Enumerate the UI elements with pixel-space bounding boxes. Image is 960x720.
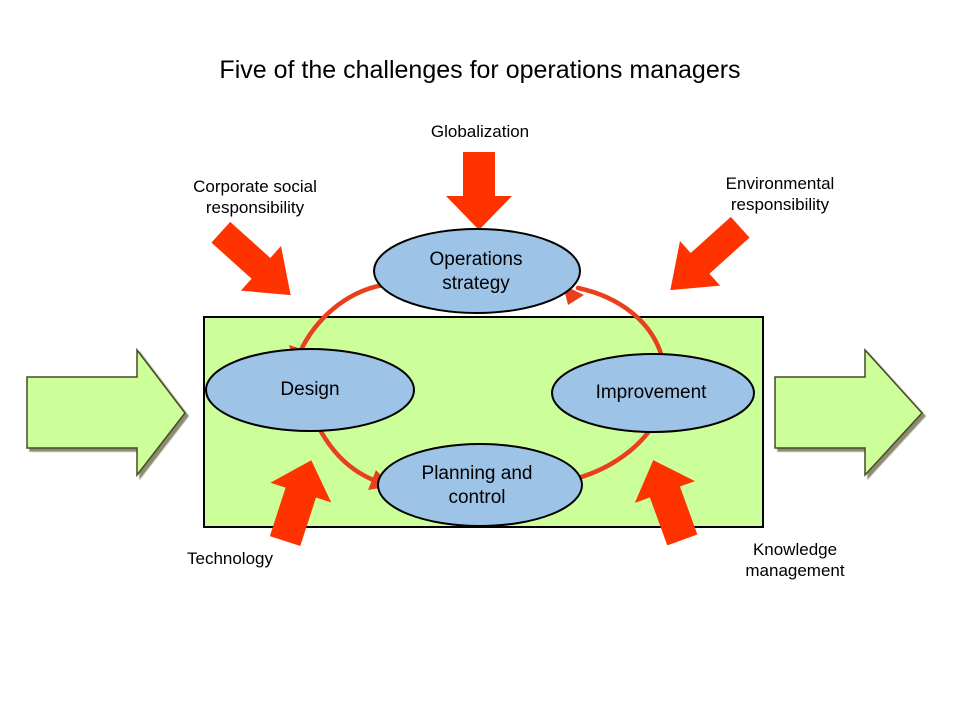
challenge-label-environmental-responsibility: Environmental responsibility xyxy=(665,173,895,216)
page-title: Five of the challenges for operations ma… xyxy=(0,55,960,86)
challenge-label-globalization: Globalization xyxy=(315,121,645,142)
node-label-operations-strategy: Operations strategy xyxy=(376,248,576,296)
corporate-social-responsibility-arrow xyxy=(201,210,311,317)
node-label-improvement: Improvement xyxy=(551,381,751,405)
operations-challenges-diagram xyxy=(0,0,960,720)
node-label-design: Design xyxy=(210,378,410,402)
output-flow-arrow xyxy=(775,350,922,475)
globalization-arrow xyxy=(446,152,512,230)
challenge-label-corporate-social-responsibility: Corporate social responsibility xyxy=(140,176,370,219)
challenge-label-technology: Technology xyxy=(125,548,335,569)
slide-canvas: Five of the challenges for operations ma… xyxy=(0,0,960,720)
environmental-responsibility-arrow xyxy=(650,205,760,312)
input-flow-arrow xyxy=(27,350,185,475)
node-label-planning-control: Planning and control xyxy=(377,462,577,510)
challenge-label-knowledge-management: Knowledge management xyxy=(680,539,910,582)
